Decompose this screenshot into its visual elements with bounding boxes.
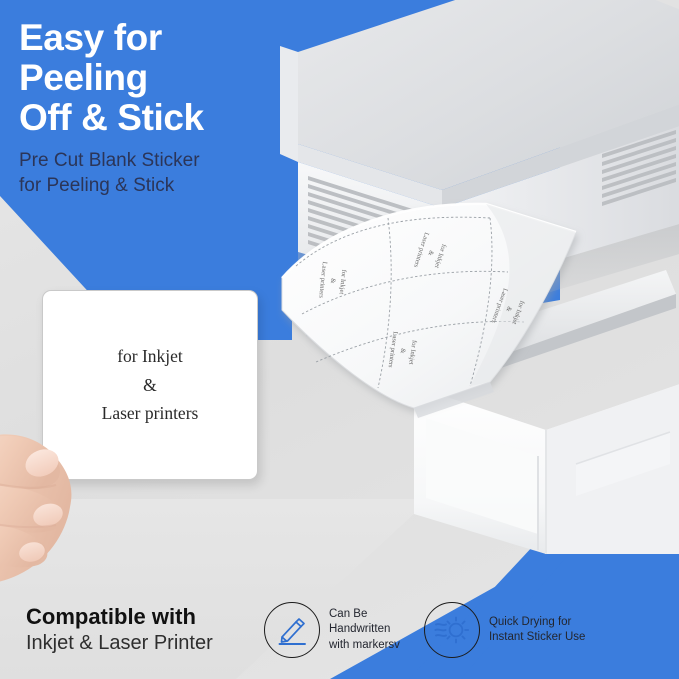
- sticker-sheet: for Inkjet & Laser printers for Inkjet &…: [276, 196, 616, 426]
- subheadline-line-1: Pre Cut Blank Sticker: [19, 148, 349, 173]
- headline-line-1: Easy for: [19, 18, 319, 58]
- label-card-line-1: for Inkjet: [102, 342, 199, 370]
- feature-quick-drying-text: Quick Drying for Instant Sticker Use: [489, 615, 586, 646]
- sun-drying-icon: [434, 613, 470, 647]
- label-card-line-2: &: [102, 371, 199, 399]
- headline: Easy for Peeling Off & Stick: [19, 18, 319, 138]
- subheadline-line-2: for Peeling & Stick: [19, 173, 349, 198]
- headline-line-3: Off & Stick: [19, 98, 319, 138]
- compatible-subtext: Inkjet & Laser Printer: [26, 630, 262, 656]
- bottom-feature-bar: Compatible with Inkjet & Laser Printer C…: [0, 581, 679, 679]
- headline-line-2: Peeling: [19, 58, 319, 98]
- feature-handwritten: Can Be Handwritten with markersv: [264, 602, 400, 658]
- compatible-headline: Compatible with: [26, 604, 262, 631]
- compatibility-text: Compatible with Inkjet & Laser Printer: [26, 604, 262, 657]
- feature-handwritten-text: Can Be Handwritten with markersv: [329, 607, 400, 653]
- sun-drying-badge: [424, 602, 480, 658]
- subheadline: Pre Cut Blank Sticker for Peeling & Stic…: [19, 148, 349, 198]
- pen-writing-badge: [264, 602, 320, 658]
- pen-writing-icon: [275, 613, 309, 647]
- feature-quick-drying: Quick Drying for Instant Sticker Use: [424, 602, 586, 658]
- product-image-canvas: for Inkjet & Laser printers for Inkjet &…: [0, 0, 679, 679]
